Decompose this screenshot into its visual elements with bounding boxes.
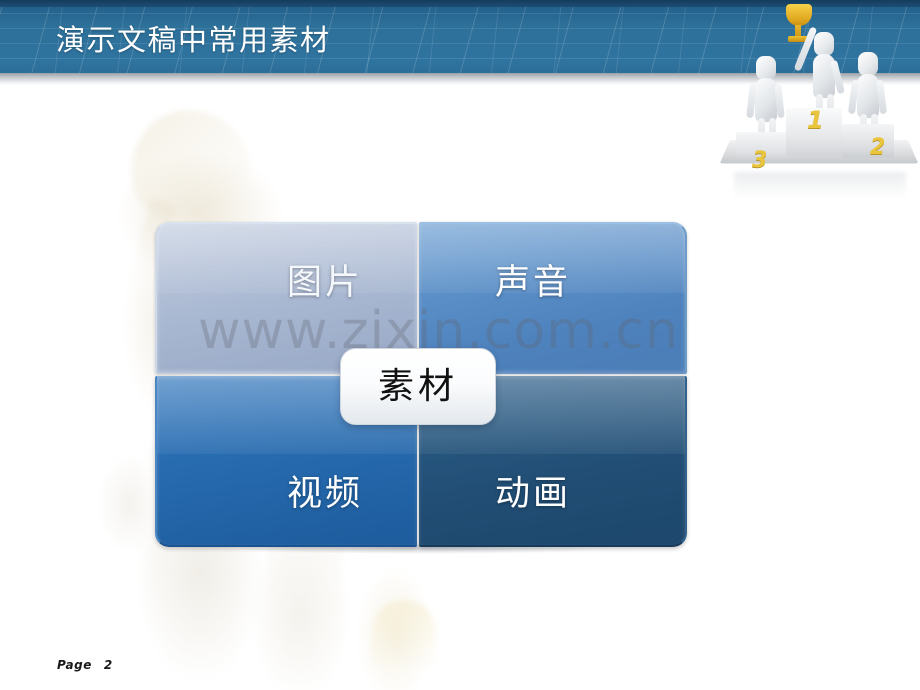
podium-step-second: [842, 124, 894, 158]
page-title: 演示文稿中常用素材: [56, 24, 331, 56]
footer-page-indicator: Page2: [57, 658, 113, 672]
slide-canvas: 演示文稿中常用素材: [0, 0, 920, 690]
quadrant-label-animation: 动画: [495, 475, 571, 513]
figure-body-icon: [857, 74, 879, 118]
figure-head-icon: [756, 56, 776, 80]
trophy-icon: [786, 4, 812, 26]
podium-illustration: 1 2 3: [712, 0, 920, 205]
footer-page-number: 2: [104, 658, 113, 672]
background-trophy-ghost-icon: [115, 94, 262, 231]
diagram-center-badge[interactable]: 素材: [340, 348, 496, 425]
figure-head-icon: [814, 32, 834, 56]
podium-rank-first: 1: [807, 106, 824, 134]
diagram-center-label: 素材: [378, 367, 458, 407]
podium-rank-third: 3: [752, 148, 767, 173]
podium-reflection: [734, 172, 906, 198]
quadrant-label-images: 图片: [287, 264, 363, 302]
quadrant-label-sound: 声音: [495, 264, 571, 302]
background-gold-ghost-icon: [372, 600, 436, 670]
figure-body-icon: [755, 78, 777, 122]
figure-head-icon: [858, 52, 878, 76]
quadrant-label-video: 视频: [287, 475, 363, 513]
podium-rank-second: 2: [870, 135, 885, 160]
footer-page-label: Page: [57, 658, 92, 672]
